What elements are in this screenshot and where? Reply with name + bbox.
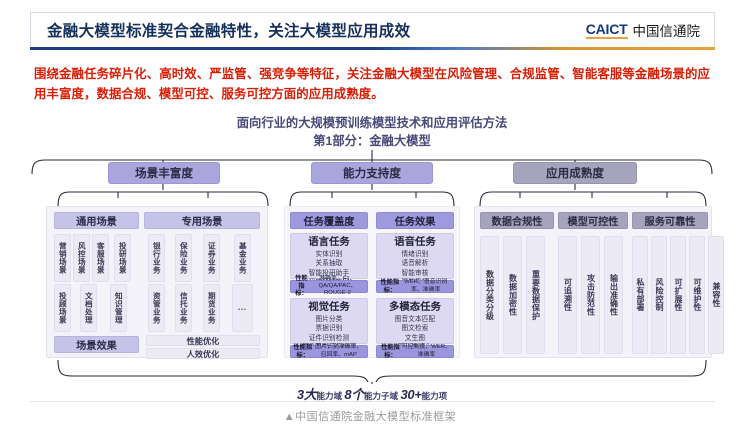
chip-risk-control[interactable]: 风险控制 <box>651 236 667 354</box>
chip-special-scene-more[interactable]: … <box>232 284 253 332</box>
chip-general-scene-2[interactable]: 风控场景 <box>73 234 90 282</box>
subgroup-general-scene-header[interactable]: 通用场景 <box>54 212 139 229</box>
task-card-multimodal-title: 多模态任务 <box>377 301 453 314</box>
chip-compatibility[interactable]: 兼容性 <box>708 236 724 354</box>
summary-label-subdomains: 能力子域 <box>364 391 398 401</box>
chip-special-scene-2[interactable]: 保险业务 <box>175 234 192 282</box>
slide-header: 金融大模型标准契合金融特性，关注大模型应用成效 CAICT 中国信通院 <box>30 12 715 47</box>
chip-maintainability[interactable]: 可维护性 <box>689 236 705 354</box>
chip-special-scene-3[interactable]: 证券业务 <box>203 234 220 282</box>
caict-wordmark: CAICT <box>586 22 628 39</box>
task-card-multimodal[interactable]: 多模态任务 图音文本匹配 图文检索 文生图 图片描述化 <box>376 298 454 344</box>
task-card-vision-title: 视觉任务 <box>291 301 367 314</box>
chip-traceability[interactable]: 可追溯性 <box>558 236 577 354</box>
metric-bar-language-value: 准确率、F1、QA/QA/PAC、ROUGE-2 <box>310 276 365 298</box>
chip-general-scene-1[interactable]: 营销场景 <box>54 234 71 282</box>
summary-count-subdomains: 8个 <box>344 387 364 402</box>
task-card-speech-item-2: 语音解析 <box>377 259 453 268</box>
branch-node-maturity[interactable]: 应用成熟度 <box>513 162 637 184</box>
subgroup-special-scene-header[interactable]: 专用场景 <box>144 212 260 229</box>
chip-special-scene-7[interactable]: 期货业务 <box>203 284 220 332</box>
chip-general-scene-3[interactable]: 客服场景 <box>92 234 109 282</box>
summary-label-items: 能力项 <box>422 391 448 401</box>
chip-special-scene-1[interactable]: 银行业务 <box>148 234 165 282</box>
subgroup-service-reliability-header[interactable]: 服务可靠性 <box>632 212 708 229</box>
chip-scalability[interactable]: 可扩展性 <box>670 236 686 354</box>
task-card-speech-item-3: 智能审核 <box>377 269 453 278</box>
chip-data-classification[interactable]: 数据分类分级 <box>480 236 499 354</box>
subgroup-task-coverage-header[interactable]: 任务覆盖度 <box>290 212 368 229</box>
metric-bar-speech: 性能指标： WER、语音识别率、准确率 <box>376 280 454 293</box>
caict-logo: CAICT 中国信通院 <box>586 20 700 40</box>
chip-general-scene-6[interactable]: 文档处理 <box>80 284 97 332</box>
standard-framework-diagram: 面向行业的大规模预训练模型技术和应用评估方法 第1部分：金融大模型 <box>22 112 722 402</box>
task-card-speech[interactable]: 语音任务 情绪识别 语音解析 智能审核 智能质检 … <box>376 233 454 279</box>
subgroup-task-effect-header[interactable]: 任务效果 <box>376 212 454 229</box>
metric-bar-speech-label: 性能指标： <box>379 279 401 294</box>
caict-chinese-name: 中国信通院 <box>633 20 701 40</box>
header-divider-rule <box>30 47 715 50</box>
summary-count-items: 30+ <box>400 387 421 402</box>
metric-bar-vision: 性能指标： 图片识别准确率、召回率、mAP <box>290 345 368 358</box>
task-card-multimodal-item-1: 图音文本匹配 <box>377 315 453 324</box>
figure-caption: ▲中国信通院金融大模型标准框架 <box>0 408 740 424</box>
subgroup-data-compliance-header[interactable]: 数据合规性 <box>480 212 554 229</box>
document-title-line1: 面向行业的大规模预训练模型技术和应用评估方法 <box>237 116 508 130</box>
task-card-vision[interactable]: 视觉任务 图片分类 票据识别 证件识别检测 图像异常目标检测 <box>290 298 368 344</box>
chip-special-scene-4[interactable]: 基金业务 <box>234 234 251 282</box>
caption-divider <box>30 401 715 402</box>
task-card-multimodal-item-3: 文生图 <box>377 334 453 343</box>
slide-canvas: 金融大模型标准契合金融特性，关注大模型应用成效 CAICT 中国信通院 围绕金融… <box>0 0 740 441</box>
task-card-multimodal-item-2: 图文检索 <box>377 324 453 333</box>
branch-node-capability[interactable]: 能力支持度 <box>311 162 433 184</box>
lead-paragraph: 围绕金融任务碎片化、高时效、严监管、强竞争等特征，关注金融大模型在风险管理、合规… <box>34 64 710 104</box>
summary-label-domains: 能力域 <box>317 391 343 401</box>
metric-bar-multimodal: 性能指标： 可控制度、WER、准确率 <box>376 345 454 358</box>
document-title: 面向行业的大规模预训练模型技术和应用评估方法 第1部分：金融大模型 <box>22 114 722 151</box>
chip-special-scene-5[interactable]: 资管业务 <box>148 284 165 332</box>
chip-special-scene-6[interactable]: 信托业务 <box>175 284 192 332</box>
chip-critical-data-protection[interactable]: 重要数据保护 <box>526 236 545 354</box>
metric-bar-vision-value: 图片识别准确率、召回率、mAP <box>312 344 365 358</box>
chip-output-accuracy[interactable]: 输出准确性 <box>604 236 623 354</box>
subgroup-general-scene-footer[interactable]: 场景效果 <box>54 336 139 353</box>
chip-data-encryption[interactable]: 数据加密性 <box>503 236 522 354</box>
metric-bar-multimodal-value: 可控制度、WER、准确率 <box>402 344 451 358</box>
metric-bar-language: 性能指标： 准确率、F1、QA/QA/PAC、ROUGE-2 <box>290 280 368 293</box>
metric-bar-language-label: 性能指标： <box>293 275 310 298</box>
page-title: 金融大模型标准契合金融特性，关注大模型应用成效 <box>47 19 410 41</box>
task-card-language[interactable]: 语言任务 实体识别 关系抽取 智能投研助手 智能营销文案 … <box>290 233 368 279</box>
task-card-speech-item-1: 情绪识别 <box>377 250 453 259</box>
summary-count-domains: 3大 <box>297 387 317 402</box>
task-card-language-item-2: 关系抽取 <box>291 259 367 268</box>
chip-general-scene-7[interactable]: 知识管理 <box>110 284 127 332</box>
metric-bar-multimodal-label: 性能指标： <box>379 344 402 359</box>
task-card-vision-item-3: 证件识别检测 <box>291 334 367 343</box>
chip-general-scene-5[interactable]: 投顾场景 <box>54 284 71 332</box>
metric-bar-vision-label: 性能指标： <box>293 344 312 359</box>
task-card-vision-item-2: 票据识别 <box>291 324 367 333</box>
task-card-speech-title: 语音任务 <box>377 236 453 249</box>
task-card-vision-item-1: 图片分类 <box>291 315 367 324</box>
chip-private-deployment[interactable]: 私有部署 <box>632 236 648 354</box>
subgroup-model-control-header[interactable]: 模型可控性 <box>558 212 628 229</box>
strip-efficiency-optimization[interactable]: 人效优化 <box>146 348 260 359</box>
strip-performance-optimization[interactable]: 性能优化 <box>146 335 260 346</box>
branch-node-scene[interactable]: 场景丰富度 <box>108 162 220 184</box>
metric-bar-speech-value: WER、语音识别率、准确率 <box>401 279 452 293</box>
chip-general-scene-4[interactable]: 投研场景 <box>114 234 131 282</box>
document-title-line2: 第1部分：金融大模型 <box>22 132 722 150</box>
task-card-language-title: 语言任务 <box>291 236 367 249</box>
task-card-language-item-1: 实体识别 <box>291 250 367 259</box>
chip-attack-prevention[interactable]: 攻击防范性 <box>581 236 600 354</box>
